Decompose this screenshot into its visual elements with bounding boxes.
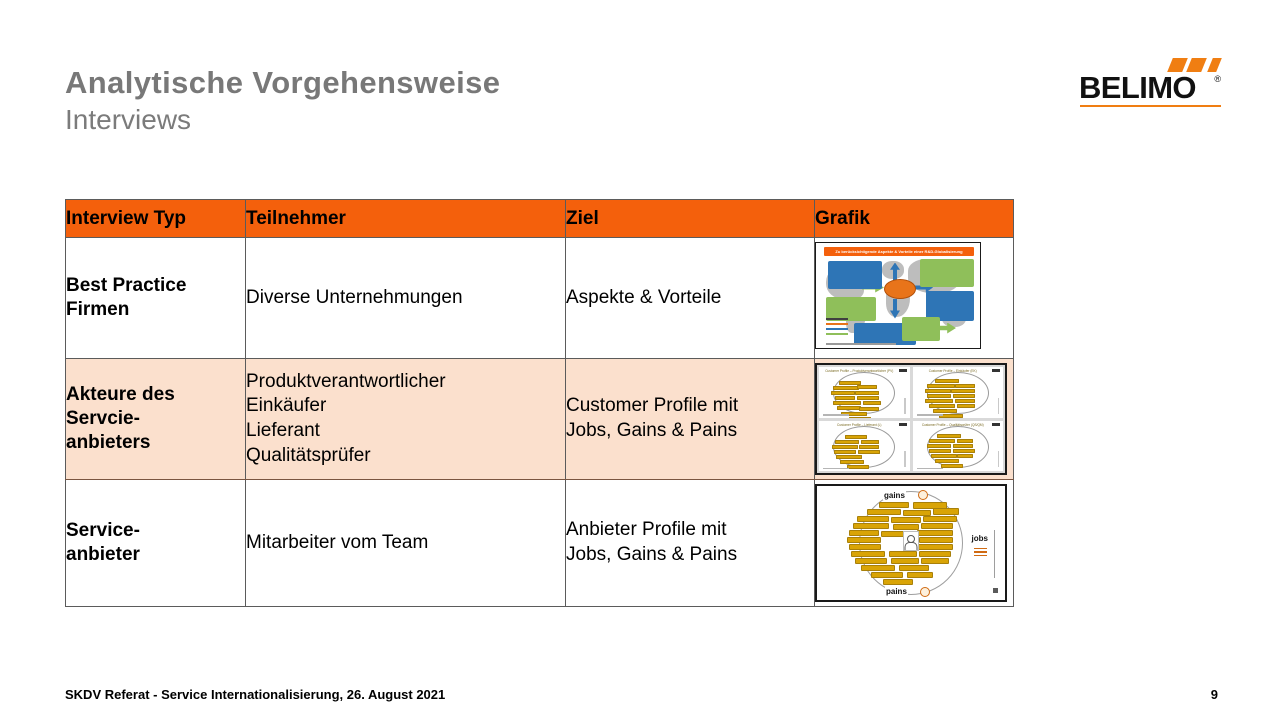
- typ-line: Best Practice: [66, 274, 245, 298]
- typ-line: Firmen: [66, 298, 245, 322]
- teilnehmer-line: Einkäufer: [246, 394, 565, 419]
- title-main: Analytische Vorgehensweise: [65, 66, 965, 101]
- cell-ziel: Anbieter Profile mit Jobs, Gains & Pains: [566, 480, 815, 607]
- mini-slide: Customer Profile – Einkäufer (EK): [913, 367, 1004, 418]
- cell-interview-typ: Best Practice Firmen: [66, 238, 246, 359]
- belimo-logo: BELIMO ®: [1079, 58, 1221, 110]
- pains-label: pains: [885, 587, 908, 596]
- mini-slide: Customer Profile – Qualitätsprüfer (QS/Q…: [913, 421, 1004, 472]
- infographic-legend: [826, 318, 848, 338]
- logo-wordmark: BELIMO: [1079, 70, 1196, 106]
- column-header-ziel: Ziel: [566, 200, 815, 238]
- cell-teilnehmer: Diverse Unternehmungen: [246, 238, 566, 359]
- column-header-teilnehmer: Teilnehmer: [246, 200, 566, 238]
- mini-logo-icon: [899, 423, 907, 426]
- table-row: Akteure des Servcie- anbieters Produktve…: [66, 359, 1014, 480]
- infographic-title-bar: Zu berücksichtigende Aspekte & Vorteile …: [824, 247, 974, 256]
- customer-profile-slides-thumbnail: Customer Profile – Produktverantwortlich…: [815, 363, 1007, 475]
- ziel-line: Anbieter Profile mit: [566, 518, 814, 543]
- typ-line: Service-: [66, 519, 245, 543]
- typ-line: anbieter: [66, 543, 245, 567]
- world-map-infographic-thumbnail: Zu berücksichtigende Aspekte & Vorteile …: [815, 242, 981, 349]
- ziel-line: Customer Profile mit: [566, 394, 814, 419]
- logo-underline: [1080, 105, 1221, 107]
- typ-line: anbieters: [66, 431, 245, 455]
- cell-teilnehmer: Mitarbeiter vom Team: [246, 480, 566, 607]
- registered-trademark-icon: ®: [1214, 74, 1221, 84]
- person-icon: [903, 531, 919, 551]
- cell-teilnehmer: Produktverantwortlicher Einkäufer Liefer…: [246, 359, 566, 480]
- ziel-line: Jobs, Gains & Pains: [566, 543, 814, 568]
- interviews-table: Interview Typ Teilnehmer Ziel Grafik Bes…: [65, 199, 1014, 607]
- typ-line: Servcie-: [66, 407, 245, 431]
- column-header-grafik: Grafik: [815, 200, 1014, 238]
- mini-logo-icon: [899, 369, 907, 372]
- mini-logo-icon: [992, 369, 1000, 372]
- value-proposition-canvas-thumbnail: gains pains jobs: [815, 484, 1007, 602]
- table-row: Service- anbieter Mitarbeiter vom Team A…: [66, 480, 1014, 607]
- page-number: 9: [1211, 687, 1218, 702]
- ziel-line: Jobs, Gains & Pains: [566, 419, 814, 444]
- infographic-center-node: [884, 279, 916, 299]
- cell-grafik: gains pains jobs: [815, 480, 1014, 607]
- title-subtitle: Interviews: [65, 103, 965, 136]
- footer-text: SKDV Referat - Service Internationalisie…: [65, 687, 445, 702]
- cell-ziel: Aspekte & Vorteile: [566, 238, 815, 359]
- interviews-table-wrapper: Interview Typ Teilnehmer Ziel Grafik Bes…: [65, 199, 1013, 607]
- mini-logo-icon: [992, 423, 1000, 426]
- frowny-face-icon: [920, 587, 930, 597]
- cell-ziel: Customer Profile mit Jobs, Gains & Pains: [566, 359, 815, 480]
- smiley-face-icon: [918, 490, 928, 500]
- teilnehmer-line: Lieferant: [246, 419, 565, 444]
- table-row: Best Practice Firmen Diverse Unternehmun…: [66, 238, 1014, 359]
- jobs-list-icon: [974, 548, 987, 558]
- mini-slide: Customer Profile – Lieferant (L): [819, 421, 910, 472]
- column-header-interview-typ: Interview Typ: [66, 200, 246, 238]
- typ-line: Akteure des: [66, 383, 245, 407]
- gains-label: gains: [883, 491, 906, 500]
- page-title: Analytische Vorgehensweise Interviews: [65, 66, 965, 136]
- teilnehmer-line: Qualitätsprüfer: [246, 444, 565, 469]
- cell-grafik: Zu berücksichtigende Aspekte & Vorteile …: [815, 238, 1014, 359]
- cell-grafik: Customer Profile – Produktverantwortlich…: [815, 359, 1014, 480]
- jobs-label: jobs: [971, 534, 989, 543]
- cell-interview-typ: Service- anbieter: [66, 480, 246, 607]
- mini-slide: Customer Profile – Produktverantwortlich…: [819, 367, 910, 418]
- cell-interview-typ: Akteure des Servcie- anbieters: [66, 359, 246, 480]
- table-header-row: Interview Typ Teilnehmer Ziel Grafik: [66, 200, 1014, 238]
- teilnehmer-line: Produktverantwortlicher: [246, 370, 565, 395]
- slide-canvas: Analytische Vorgehensweise Interviews BE…: [0, 0, 1280, 720]
